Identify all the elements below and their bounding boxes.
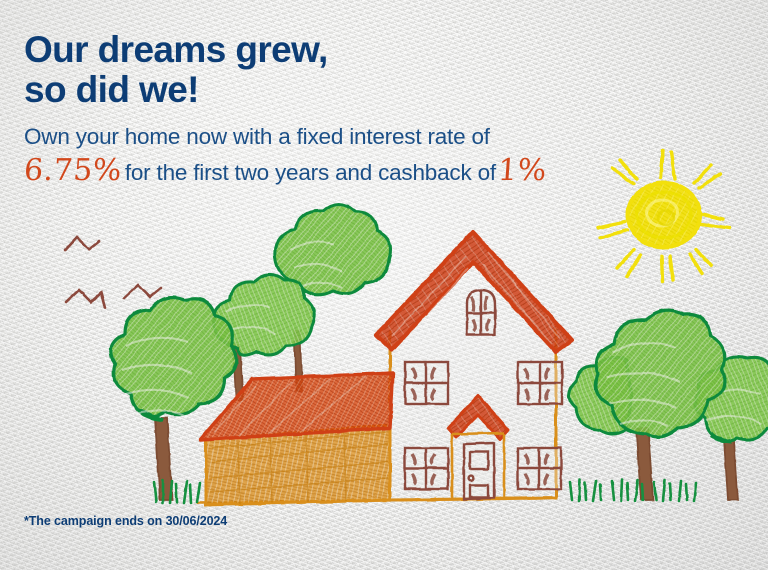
window-upper-left [405,362,448,404]
interest-rate-value: 6.75% [23,156,123,186]
campaign-footnote: *The campaign ends on 30/06/2024 [24,514,227,528]
campaign-banner: Our dreams grew, so did we! Own your hom… [0,0,768,570]
subheading-line-1: Own your home now with a fixed interest … [24,126,644,149]
window-lower-right [518,448,561,489]
subheading-line-2: 6.75% for the first two years and cashba… [24,156,644,186]
headline-line-2: so did we! [24,70,644,110]
birds-icon [65,237,161,308]
cashback-rate-value: 1% [497,156,548,186]
headline-line-1: Our dreams grew, [24,30,644,70]
window-upper-right [518,362,562,404]
main-house [376,232,572,500]
garage-annex [200,373,393,505]
window-lower-left [405,448,448,489]
headline-block: Our dreams grew, so did we! Own your hom… [24,30,644,186]
attic-window [467,290,495,335]
front-door [464,443,494,499]
tree-right-near [569,310,725,500]
subheading-middle-text: for the first two years and cashback of [125,162,496,185]
